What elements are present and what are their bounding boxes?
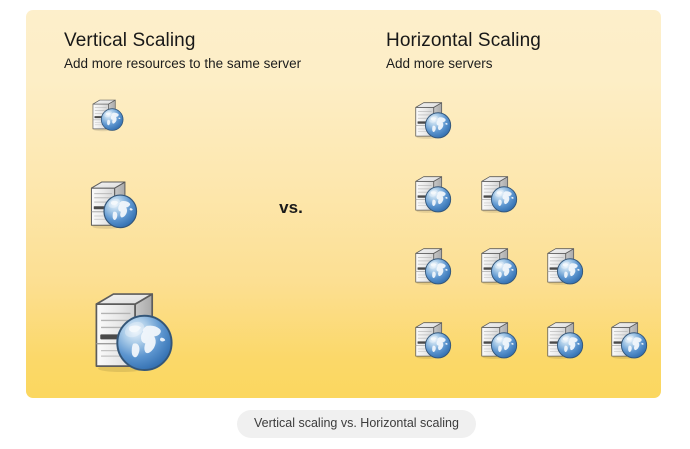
scaling-diagram-card: Vertical Scaling Add more resources to t… bbox=[26, 10, 661, 398]
vertical-scaling-heading: Vertical Scaling Add more resources to t… bbox=[64, 30, 301, 73]
server-icon-r2-c1 bbox=[410, 172, 455, 217]
server-icon-r1-c1 bbox=[410, 98, 455, 143]
server-small bbox=[88, 96, 126, 134]
server-large bbox=[84, 284, 180, 380]
server-medium bbox=[84, 176, 142, 234]
server-icon-r3-c2 bbox=[476, 244, 521, 289]
server-icon-r4-c1 bbox=[410, 318, 455, 363]
server-icon-r4-c2 bbox=[476, 318, 521, 363]
server-icon-r3-c3 bbox=[542, 244, 587, 289]
server-icon-r3-c1 bbox=[410, 244, 455, 289]
server-icon-r2-c2 bbox=[476, 172, 521, 217]
horizontal-scaling-heading: Horizontal Scaling Add more servers bbox=[386, 30, 541, 73]
server-icon-r4-c3 bbox=[542, 318, 587, 363]
diagram-caption: Vertical scaling vs. Horizontal scaling bbox=[237, 410, 476, 438]
horizontal-scaling-subtitle: Add more servers bbox=[386, 55, 541, 73]
vs-separator-label: vs. bbox=[246, 198, 336, 218]
server-icon-r4-c4 bbox=[606, 318, 651, 363]
vertical-scaling-subtitle: Add more resources to the same server bbox=[64, 55, 301, 73]
vertical-scaling-title: Vertical Scaling bbox=[64, 30, 301, 52]
horizontal-scaling-title: Horizontal Scaling bbox=[386, 30, 541, 52]
